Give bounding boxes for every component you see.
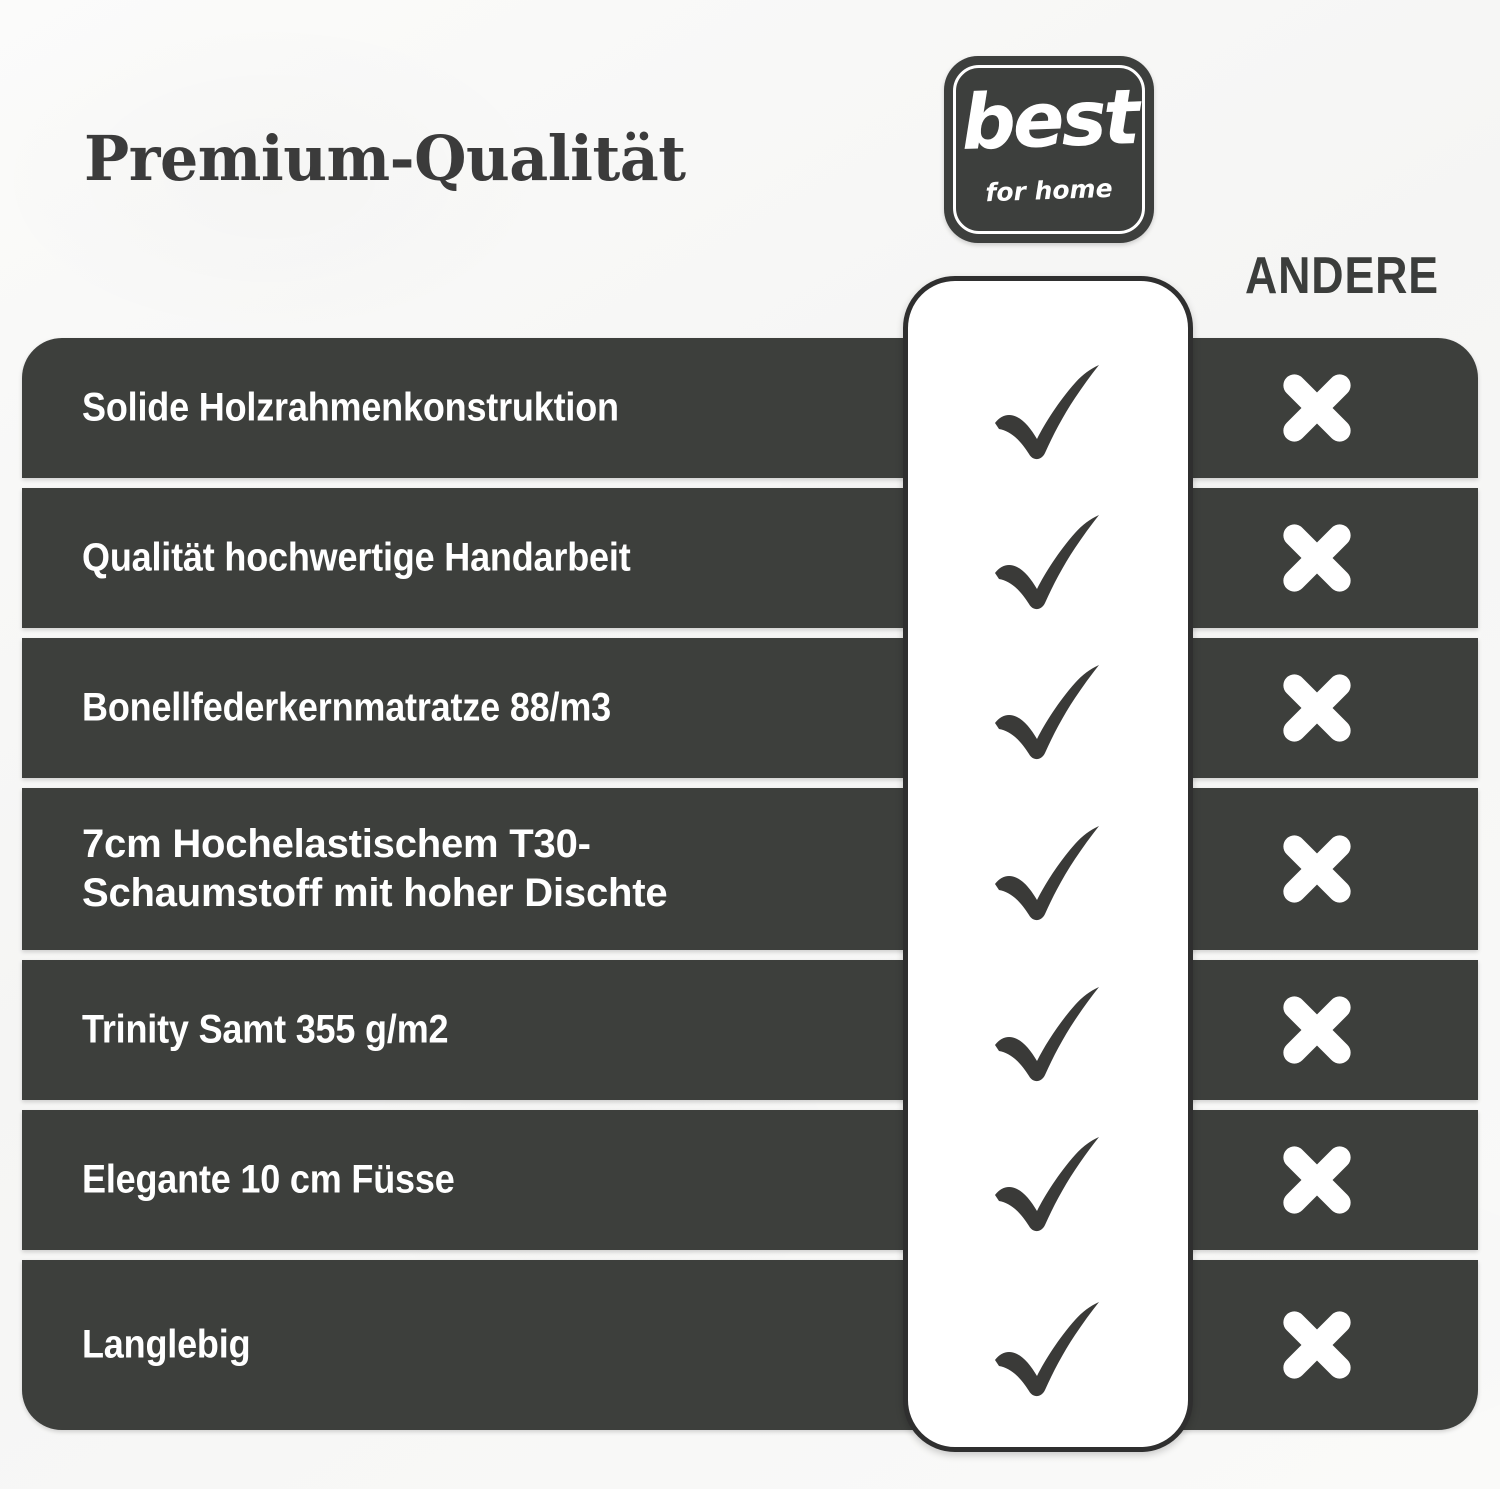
feature-row-label: Trinity Samt 355 g/m2 xyxy=(82,1006,448,1055)
brand-highlight-column xyxy=(903,276,1193,1452)
page-title: Premium-Qualität xyxy=(84,122,686,195)
feature-row: Solide Holzrahmenkonstruktion xyxy=(22,338,1478,478)
feature-row: Qualität hochwertige Handarbeit xyxy=(22,488,1478,628)
feature-row-label: Qualität hochwertige Handarbeit xyxy=(82,534,631,583)
best-for-home-logo: best for home xyxy=(944,56,1154,243)
logo-wordmark-best: best xyxy=(943,78,1156,161)
cross-icon xyxy=(1275,1138,1359,1222)
cross-icon xyxy=(1275,366,1359,450)
feature-row: Trinity Samt 355 g/m2 xyxy=(22,960,1478,1100)
feature-row-label: Solide Holzrahmenkonstruktion xyxy=(82,384,619,433)
feature-row-label: Langlebig xyxy=(82,1321,250,1370)
cross-icon xyxy=(1275,827,1359,911)
feature-row-label-line2: Schaumstoff mit hoher Dischte xyxy=(82,869,667,918)
cross-icon xyxy=(1275,988,1359,1072)
comparison-infographic: Premium-Qualität best for home ANDERE So… xyxy=(0,0,1500,1489)
cross-icon xyxy=(1275,1303,1359,1387)
feature-row: Langlebig xyxy=(22,1260,1478,1430)
feature-row-label: 7cm Hochelastischem T30-Schaumstoff mit … xyxy=(82,820,667,918)
feature-row-label: Elegante 10 cm Füsse xyxy=(82,1156,455,1205)
others-column-header: ANDERE xyxy=(1245,246,1439,306)
feature-rows: Solide HolzrahmenkonstruktionQualität ho… xyxy=(22,338,1478,1430)
feature-row-label: Bonellfederkernmatratze 88/m3 xyxy=(82,684,611,733)
feature-row: Bonellfederkernmatratze 88/m3 xyxy=(22,638,1478,778)
feature-row: 7cm Hochelastischem T30-Schaumstoff mit … xyxy=(22,788,1478,950)
feature-row: Elegante 10 cm Füsse xyxy=(22,1110,1478,1250)
cross-icon xyxy=(1275,666,1359,750)
cross-icon xyxy=(1275,516,1359,600)
